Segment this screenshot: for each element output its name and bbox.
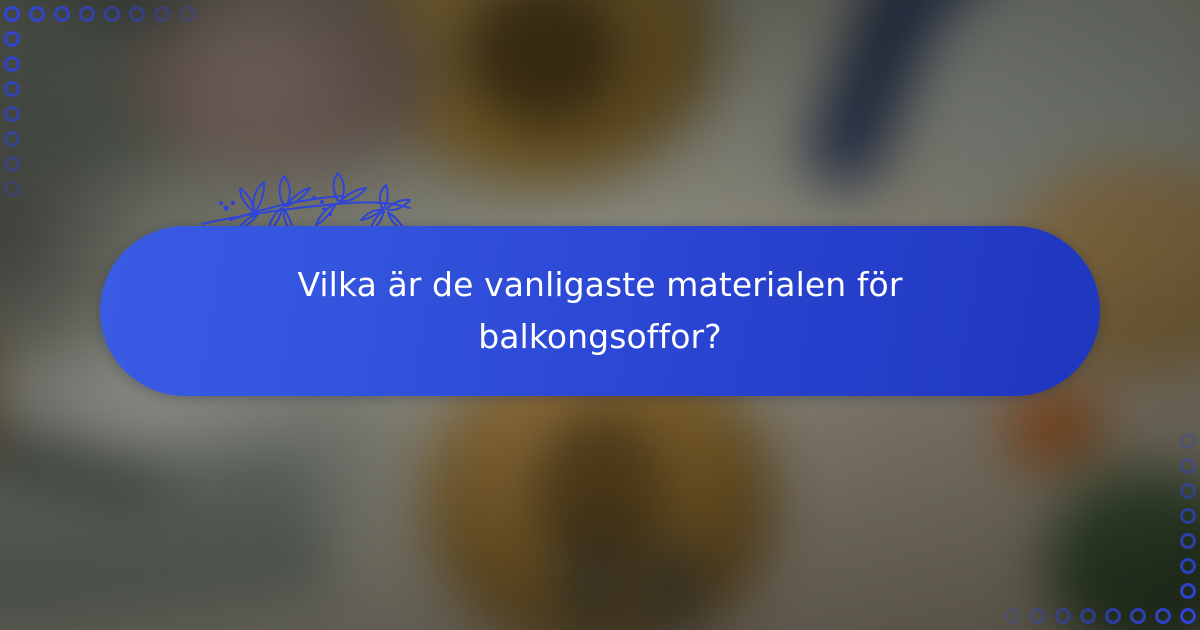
- decor-ring: [1180, 583, 1196, 599]
- decor-ring: [1180, 433, 1196, 449]
- decor-ring: [4, 131, 20, 147]
- decor-ring: [104, 6, 120, 22]
- decor-ring: [1180, 558, 1196, 574]
- decor-ring: [4, 6, 20, 22]
- decor-ring: [1055, 608, 1071, 624]
- decor-ring: [1155, 608, 1171, 624]
- decor-ring: [4, 181, 20, 197]
- decor-ring: [1180, 608, 1196, 624]
- decor-ring: [179, 6, 195, 22]
- decor-ring: [1180, 458, 1196, 474]
- decor-ring: [4, 81, 20, 97]
- decor-ring: [1180, 533, 1196, 549]
- decor-ring: [4, 106, 20, 122]
- decor-ring: [4, 31, 20, 47]
- decor-ring: [54, 6, 70, 22]
- decor-ring: [29, 6, 45, 22]
- decor-ring: [79, 6, 95, 22]
- og-image-canvas: Vilka är de vanligaste materialen för ba…: [0, 0, 1200, 630]
- decor-ring: [1130, 608, 1146, 624]
- decor-ring: [1005, 608, 1021, 624]
- decor-ring: [1180, 483, 1196, 499]
- question-pill: Vilka är de vanligaste materialen för ba…: [100, 226, 1100, 396]
- question-text: Vilka är de vanligaste materialen för ba…: [230, 259, 970, 363]
- decor-ring: [4, 56, 20, 72]
- decor-ring: [1080, 608, 1096, 624]
- decor-ring: [1030, 608, 1046, 624]
- decor-ring: [1180, 508, 1196, 524]
- decor-ring: [4, 156, 20, 172]
- decor-ring: [1105, 608, 1121, 624]
- decor-ring: [154, 6, 170, 22]
- decor-ring: [129, 6, 145, 22]
